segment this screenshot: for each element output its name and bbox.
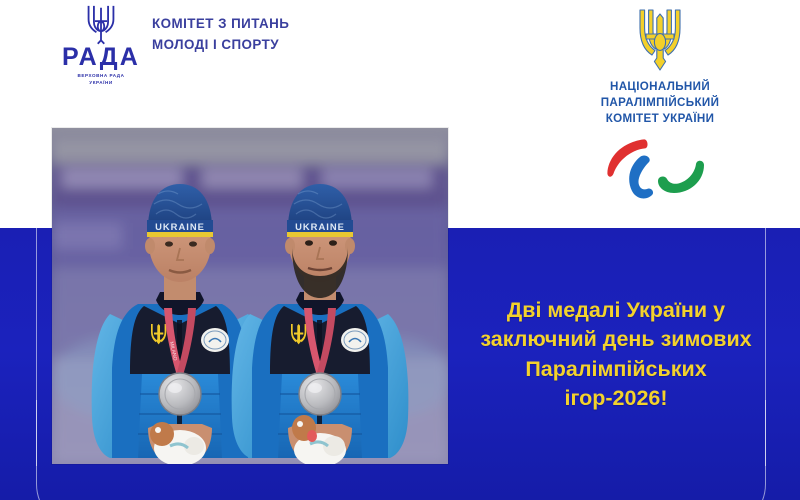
rada-logo: РАДА ВЕРХОВНА РАДА УКРАЇНИ — [52, 2, 150, 86]
hat-text: UKRAINE — [155, 221, 205, 232]
rada-subtitle-line-2: УКРАЇНИ — [52, 80, 150, 87]
committee-wordmark: КОМІТЕТ З ПИТАНЬ МОЛОДІ І СПОРТУ — [152, 14, 289, 56]
rada-subtitle-line-1: ВЕРХОВНА РАДА — [52, 73, 150, 80]
podium-photo: MILANO — [52, 128, 448, 464]
headline-line-3: Паралімпійських — [456, 355, 776, 384]
rada-wordmark: РАДА — [52, 45, 150, 70]
hat-text: UKRAINE — [295, 221, 345, 232]
headline-line-2: заключний день зимових — [456, 325, 776, 354]
poster-canvas: РАДА ВЕРХОВНА РАДА УКРАЇНИ КОМІТЕТ З ПИТ… — [0, 0, 800, 500]
ukrainian-trident-icon — [81, 2, 121, 46]
headline-line-1: Дві медалі України у — [456, 296, 776, 325]
npc-name-line-3: КОМІТЕТ УКРАЇНИ — [520, 111, 800, 127]
headline: Дві медалі України у заключний день зимо… — [456, 296, 776, 414]
headline-line-4: ігор-2026! — [456, 384, 776, 413]
committee-line-1: КОМІТЕТ З ПИТАНЬ — [152, 14, 289, 35]
committee-line-2: МОЛОДІ І СПОРТУ — [152, 35, 289, 56]
ukrainian-trident-icon — [632, 6, 688, 74]
paralympic-agitos-icon — [600, 135, 720, 205]
npc-name: НАЦІОНАЛЬНИЙ ПАРАЛІМПІЙСЬКИЙ КОМІТЕТ УКР… — [520, 79, 800, 127]
npc-name-line-2: ПАРАЛІМПІЙСЬКИЙ — [520, 95, 800, 111]
npc-name-line-1: НАЦІОНАЛЬНИЙ — [520, 79, 800, 95]
npc-ukraine-logo: НАЦІОНАЛЬНИЙ ПАРАЛІМПІЙСЬКИЙ КОМІТЕТ УКР… — [520, 6, 800, 205]
podium-photo-illustration: MILANO — [52, 128, 448, 464]
rada-subtitle: ВЕРХОВНА РАДА УКРАЇНИ — [52, 73, 150, 86]
